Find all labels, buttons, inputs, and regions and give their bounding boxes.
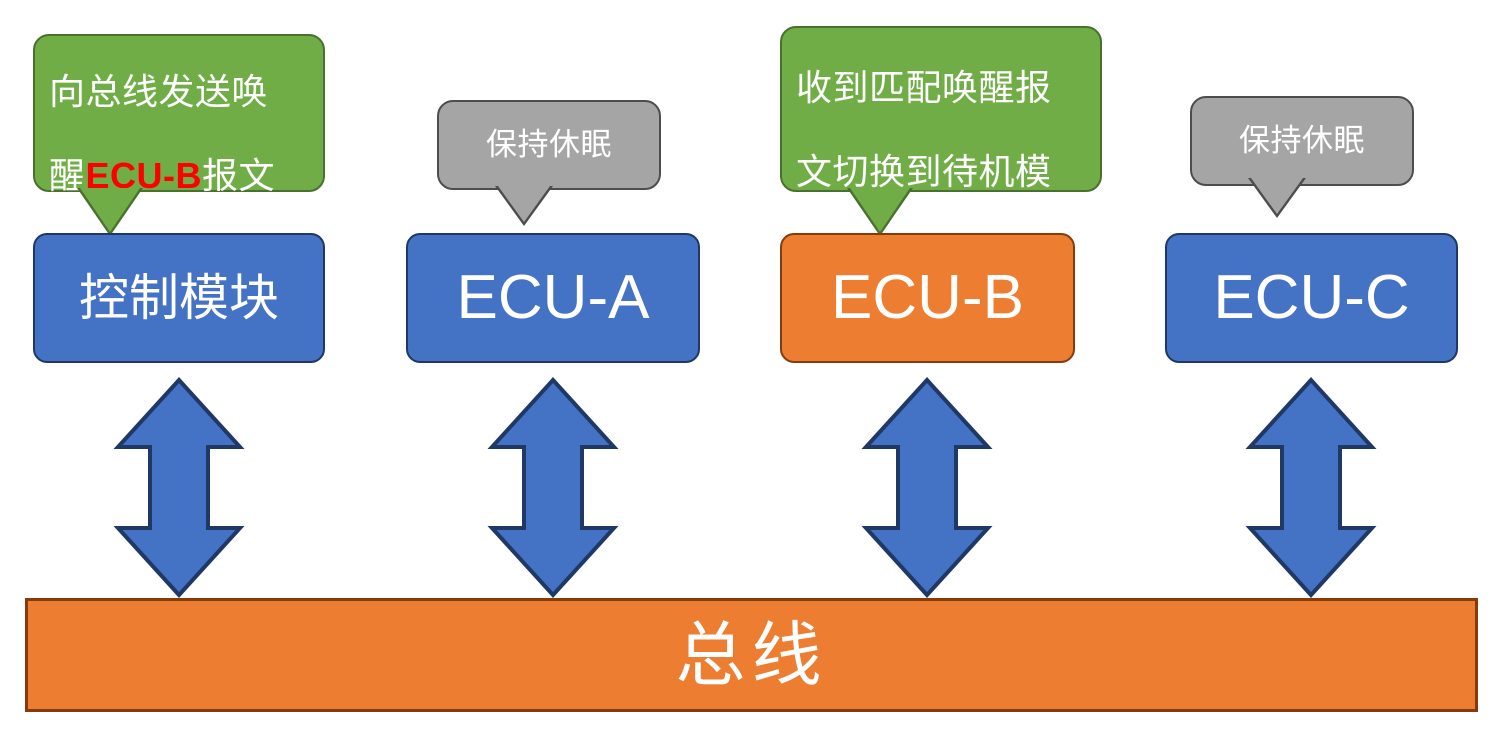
bus-bar[interactable]: 总线 bbox=[25, 598, 1478, 712]
node-ecu-c[interactable]: ECU-C bbox=[1165, 233, 1458, 363]
callout-line-2: 文切换到待机模 bbox=[796, 151, 1052, 192]
callout-ecu-a[interactable]: 保持休眠 bbox=[437, 100, 661, 190]
arrow-ecu-a-to-bus bbox=[486, 377, 620, 598]
arrow-ecu-b-to-bus bbox=[860, 377, 994, 598]
node-ecu-a[interactable]: ECU-A bbox=[406, 233, 700, 363]
callout-line-1: 向总线发送唤 bbox=[49, 71, 268, 112]
node-label: ECU-C bbox=[1213, 267, 1409, 329]
callout-text: 收到匹配唤醒报 文切换到待机模 bbox=[796, 26, 1052, 193]
callout-bubble-body: 收到匹配唤醒报 文切换到待机模 bbox=[780, 26, 1102, 192]
callout-text: 保持休眠 bbox=[486, 127, 612, 163]
arrow-control-module-to-bus bbox=[112, 377, 246, 598]
node-control-module[interactable]: 控制模块 bbox=[33, 233, 325, 363]
callout-text: 保持休眠 bbox=[1239, 123, 1365, 159]
node-label: 控制模块 bbox=[79, 273, 279, 323]
callout-line-2-suffix: 报文 bbox=[202, 155, 275, 196]
callout-text: 向总线发送唤 醒ECU-B报文 bbox=[49, 30, 275, 197]
callout-ecu-c[interactable]: 保持休眠 bbox=[1190, 96, 1414, 186]
node-label: ECU-A bbox=[457, 267, 650, 329]
callout-line-1: 收到匹配唤醒报 bbox=[796, 67, 1052, 108]
node-ecu-b[interactable]: ECU-B bbox=[780, 233, 1075, 363]
diagram-canvas: 向总线发送唤 醒ECU-B报文 控制模块 保持休眠 ECU-A bbox=[0, 0, 1508, 741]
callout-ecu-b[interactable]: 收到匹配唤醒报 文切换到待机模 bbox=[780, 26, 1102, 192]
node-label: ECU-B bbox=[831, 267, 1024, 329]
callout-control-module[interactable]: 向总线发送唤 醒ECU-B报文 bbox=[33, 34, 325, 192]
arrow-ecu-c-to-bus bbox=[1244, 377, 1378, 598]
callout-bubble-body: 保持休眠 bbox=[1190, 96, 1414, 186]
callout-bubble-body: 保持休眠 bbox=[437, 100, 661, 190]
callout-bubble-body: 向总线发送唤 醒ECU-B报文 bbox=[33, 34, 325, 192]
bus-label: 总线 bbox=[676, 620, 828, 690]
